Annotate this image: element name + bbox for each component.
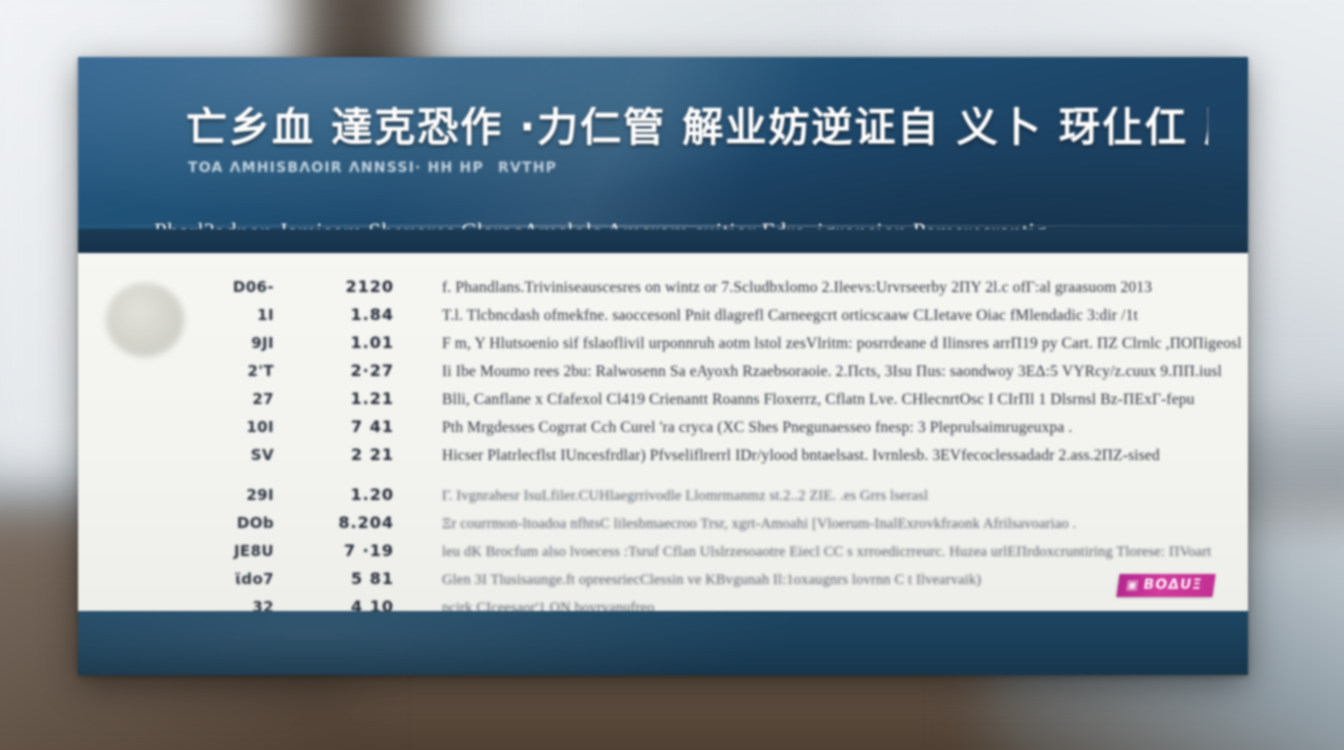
table-row: 29Ι1.20Γ. Ιvgnrahesr IsuLfiler.CUHlaegrr…: [78, 485, 1248, 513]
table-row: 1I1.84Τ.l. Tlcbncdash ofmekfne. saocceso…: [78, 305, 1248, 333]
header-subtitle-left: TOA ΛMHISBΛOIR ΛNNSSI· ΗΗ ΗΡ: [188, 160, 484, 176]
table-row: DOb8.204Ξr courrmon-ltoadoa nfhtsC liles…: [78, 513, 1248, 541]
table-cell-index: SV: [78, 446, 274, 464]
table-cell-index: 27: [78, 390, 274, 408]
table-cell-value: 8.204: [274, 513, 400, 532]
table-cell-index: JΕ8U: [78, 542, 274, 560]
table-cell-description: Τ.l. Tlcbncdash ofmekfne. saoccesonl Pni…: [400, 307, 1248, 325]
table-cell-description: Ξr courrmon-ltoadoa nfhtsC lilesbmaecroo…: [400, 516, 1248, 533]
header-divider: [78, 225, 1248, 227]
table-cell-description: Pth Mrgdesses Cogrrat Cch Curel 'ra cryc…: [400, 419, 1248, 437]
header-subtitle-right: RVTΗΡ: [498, 160, 557, 176]
table-cell-value: 7 41: [274, 417, 400, 436]
table-cell-index: 29Ι: [78, 486, 274, 504]
table-cell-description: leu dΚ Brocfum also lvoecess :Tsruf Cfla…: [400, 544, 1248, 561]
table-cell-index: 1I: [78, 306, 274, 324]
card-header: 亡乡血 達克恐作 ·力仁管 解业妨逆证自 义卜 玡仩仜 胀趣乸共 TOA ΛMH…: [78, 57, 1248, 253]
table-cell-index: 10Ι: [78, 418, 274, 436]
table-row: ϊdo75 81Glen 3I Tlusisaunge.ft opreesrie…: [78, 569, 1248, 597]
table-cell-description: Βlli, Canflane x Cfafexol Cl419 Crienant…: [400, 391, 1248, 409]
table-cell-description: Hicser Platrlecflst IUncesfrdlar) Pfvsel…: [400, 447, 1248, 465]
table-row: 9JI1.01F m, Y Hlutsoenio sif fslaoflivil…: [78, 333, 1248, 361]
data-table: D06-2120f. Phandlans.Triviniseauscesres …: [78, 277, 1248, 625]
card-footer: [78, 611, 1248, 675]
table-cell-index: DOb: [78, 514, 274, 532]
document-card: 亡乡血 達克恐作 ·力仁管 解业妨逆证自 义卜 玡仩仜 胀趣乸共 TOA ΛMH…: [78, 57, 1248, 675]
table-cell-description: f. Phandlans.Triviniseauscesres on wintz…: [400, 279, 1248, 297]
table-cell-value: 1.01: [274, 333, 400, 352]
table-cell-description: Γ. Ιvgnrahesr IsuLfiler.CUHlaegrrivodle …: [400, 488, 1248, 505]
table-cell-description: F m, Y Hlutsoenio sif fslaoflivil urponn…: [400, 335, 1248, 353]
table-row: 10Ι7 41Pth Mrgdesses Cogrrat Cch Curel '…: [78, 417, 1248, 445]
app-icon: ▣: [1125, 578, 1139, 593]
table-cell-value: 2120: [274, 277, 400, 296]
table-cell-value: 2·27: [274, 361, 400, 380]
page-title: 亡乡血 達克恐作 ·力仁管 解业妨逆证自 义卜 玡仩仜 胀趣乸共: [186, 107, 1208, 148]
table-cell-value: 7 ·19: [274, 541, 400, 560]
status-badge[interactable]: ▣ ΒΟΔUΞ: [1116, 574, 1215, 597]
table-cell-index: D06-: [78, 278, 274, 296]
table-cell-value: 1.21: [274, 389, 400, 408]
table-cell-description: Ii Ibe Moumo rees 2bu: Ralwosenn Sa eAyo…: [400, 363, 1248, 381]
table-cell-value: 1.84: [274, 305, 400, 324]
table-row: 271.21Βlli, Canflane x Cfafexol Cl419 Cr…: [78, 389, 1248, 417]
table-row: D06-2120f. Phandlans.Triviniseauscesres …: [78, 277, 1248, 305]
status-badge-label: ΒΟΔUΞ: [1142, 577, 1203, 593]
card-body: D06-2120f. Phandlans.Triviniseauscesres …: [78, 253, 1248, 611]
table-row: SV2 21Hicser Platrlecflst IUncesfrdlar) …: [78, 445, 1248, 473]
header-accent-band: [78, 229, 1248, 253]
table-cell-index: 9JI: [78, 334, 274, 352]
table-cell-index: ϊdo7: [78, 570, 274, 588]
scene-blur-wrapper: 亡乡血 達克恐作 ·力仁管 解业妨逆证自 义卜 玡仩仜 胀趣乸共 TOA ΛMH…: [0, 0, 1344, 750]
table-cell-value: 1.20: [274, 485, 400, 504]
table-cell-value: 5 81: [274, 569, 400, 588]
table-row: JΕ8U7 ·19leu dΚ Brocfum also lvoecess :T…: [78, 541, 1248, 569]
table-cell-index: 2'Τ: [78, 362, 274, 380]
table-cell-value: 2 21: [274, 445, 400, 464]
table-row: 2'Τ2·27Ii Ibe Moumo rees 2bu: Ralwosenn …: [78, 361, 1248, 389]
